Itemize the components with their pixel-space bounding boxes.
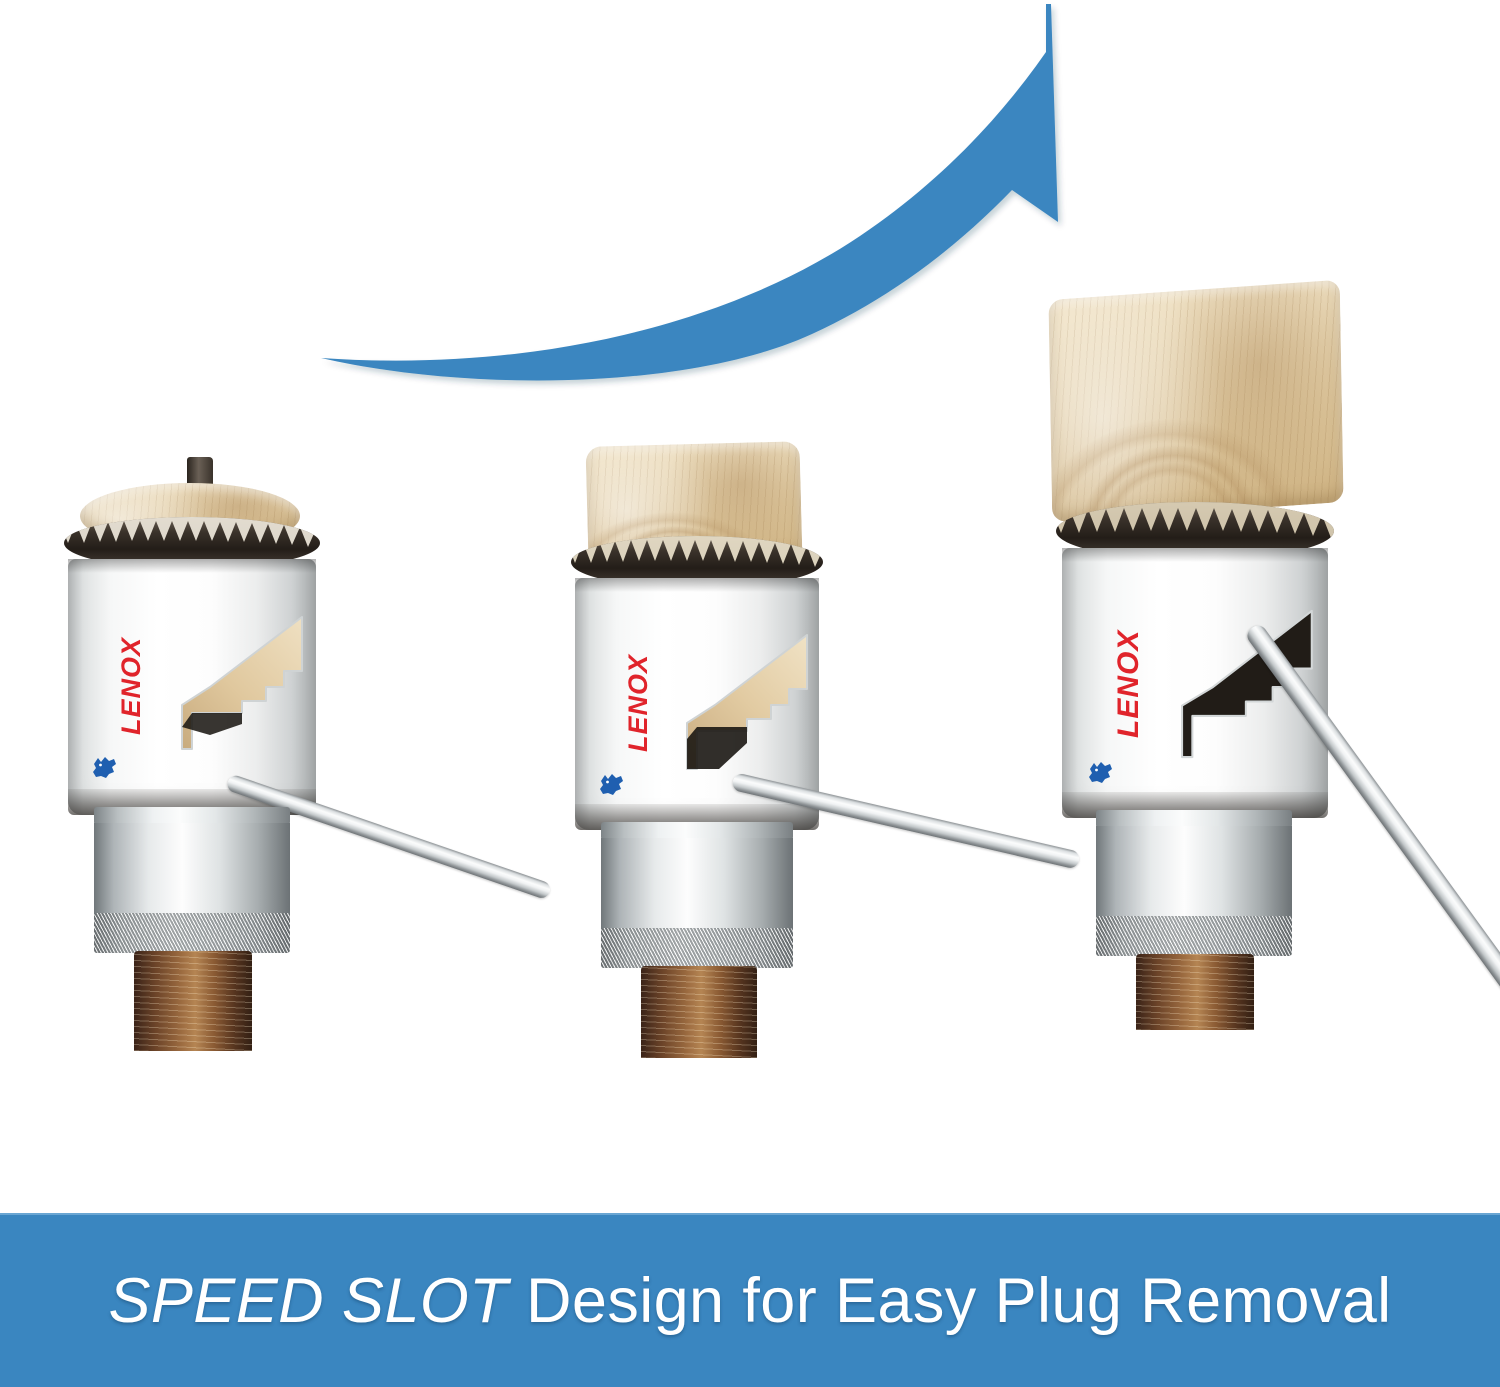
caption-emphasis: SPEED SLOT	[108, 1266, 508, 1336]
caption-banner: SPEED SLOT Design for Easy Plug Removal	[0, 1213, 1500, 1387]
lenox-decal-step-1: LENOX	[90, 593, 124, 779]
bison-head-icon	[90, 755, 118, 779]
drill-shank	[641, 966, 757, 1058]
lenox-wordmark: LENOX	[118, 593, 145, 779]
caption-text: SPEED SLOT Design for Easy Plug Removal	[0, 1270, 1500, 1333]
rim-shadow	[1062, 548, 1328, 562]
arbor-knurled-nut	[1096, 916, 1292, 956]
drill-shank	[1136, 954, 1254, 1030]
speed-slot-cutout-step-2	[685, 626, 815, 778]
arbor-knurled-nut	[94, 913, 290, 953]
arbor-barrel	[601, 838, 793, 930]
hole-saw-assembly-step-1: LENOX	[42, 455, 342, 1095]
arbor-knurled-nut	[601, 928, 793, 968]
lenox-wordmark: LENOX	[1114, 584, 1144, 784]
lenox-decal-step-3: LENOX	[1086, 584, 1120, 784]
arbor-barrel	[1096, 826, 1292, 918]
product-image-canvas: LENOX	[0, 0, 1500, 1387]
speed-slot-cutout-step-1	[180, 609, 310, 759]
bison-head-icon	[597, 772, 625, 796]
wood-plug-step-3	[1048, 280, 1343, 523]
arbor-barrel	[94, 823, 290, 915]
drill-shank	[134, 951, 252, 1051]
hole-saw-assembly-step-2: LENOX	[545, 440, 845, 1080]
arrow-shape	[321, 4, 1058, 380]
bison-head-icon	[1086, 760, 1114, 784]
rim-shadow	[575, 578, 819, 592]
lenox-decal-step-2: LENOX	[597, 610, 631, 796]
saw-body-step-1: LENOX	[68, 559, 316, 815]
arbor-assembly-step-1	[94, 807, 290, 1095]
caption-rest: Design for Easy Plug Removal	[508, 1266, 1391, 1336]
arbor-assembly-step-3	[1096, 810, 1292, 1060]
lenox-wordmark: LENOX	[625, 610, 652, 796]
hero-photo-area: LENOX	[0, 0, 1500, 1213]
rim-shadow	[68, 559, 316, 573]
arbor-assembly-step-2	[601, 822, 793, 1102]
hole-saw-assembly-step-3: LENOX	[1040, 290, 1340, 930]
